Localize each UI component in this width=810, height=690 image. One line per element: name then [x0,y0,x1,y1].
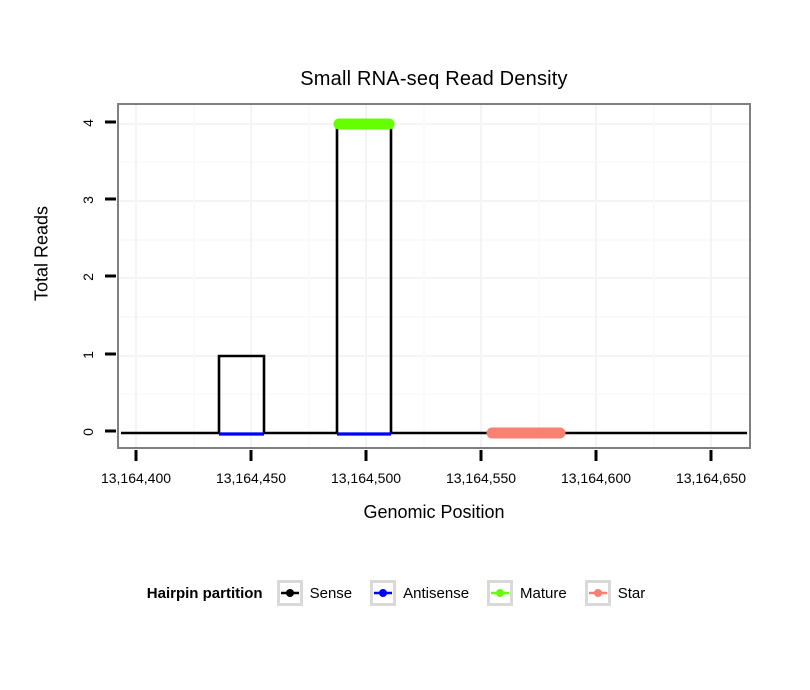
x-tick-label-0: 13,164,400 [81,470,191,486]
grid-lines [119,105,749,447]
legend-key-star-icon [585,580,611,606]
legend-key-antisense-icon [370,580,396,606]
y-axis-title: Total Reads [32,164,53,344]
chart-figure: Small RNA-seq Read Density Total Reads G… [0,0,810,690]
legend-label-sense: Sense [310,585,353,602]
page-title: Small RNA-seq Read Density [117,68,751,91]
y-tick-label-1: 1 [80,345,96,365]
y-tick-label-0: 0 [80,422,96,442]
x-tick-label-1: 13,164,450 [196,470,306,486]
legend-item-sense[interactable]: Sense [277,580,365,606]
legend-item-star[interactable]: Star [585,580,658,606]
x-tick-label-4: 13,164,600 [541,470,651,486]
x-axis-title: Genomic Position [117,502,751,523]
legend-label-star: Star [618,585,646,602]
legend-key-sense-icon [277,580,303,606]
legend-label-antisense: Antisense [403,585,469,602]
legend-label-mature: Mature [520,585,567,602]
plot-svg [119,105,749,447]
legend-item-antisense[interactable]: Antisense [370,580,481,606]
x-tick-label-5: 13,164,650 [656,470,766,486]
y-tick-label-4: 4 [80,113,96,133]
y-tick-label-3: 3 [80,190,96,210]
legend-item-mature[interactable]: Mature [487,580,579,606]
legend-key-mature-icon [487,580,513,606]
legend-title: Hairpin partition [147,585,263,602]
x-tick-label-2: 13,164,500 [311,470,421,486]
plot-panel[interactable] [117,103,751,449]
x-tick-label-3: 13,164,550 [426,470,536,486]
y-tick-label-2: 2 [80,267,96,287]
legend: Hairpin partition Sense Antisense [0,580,810,606]
